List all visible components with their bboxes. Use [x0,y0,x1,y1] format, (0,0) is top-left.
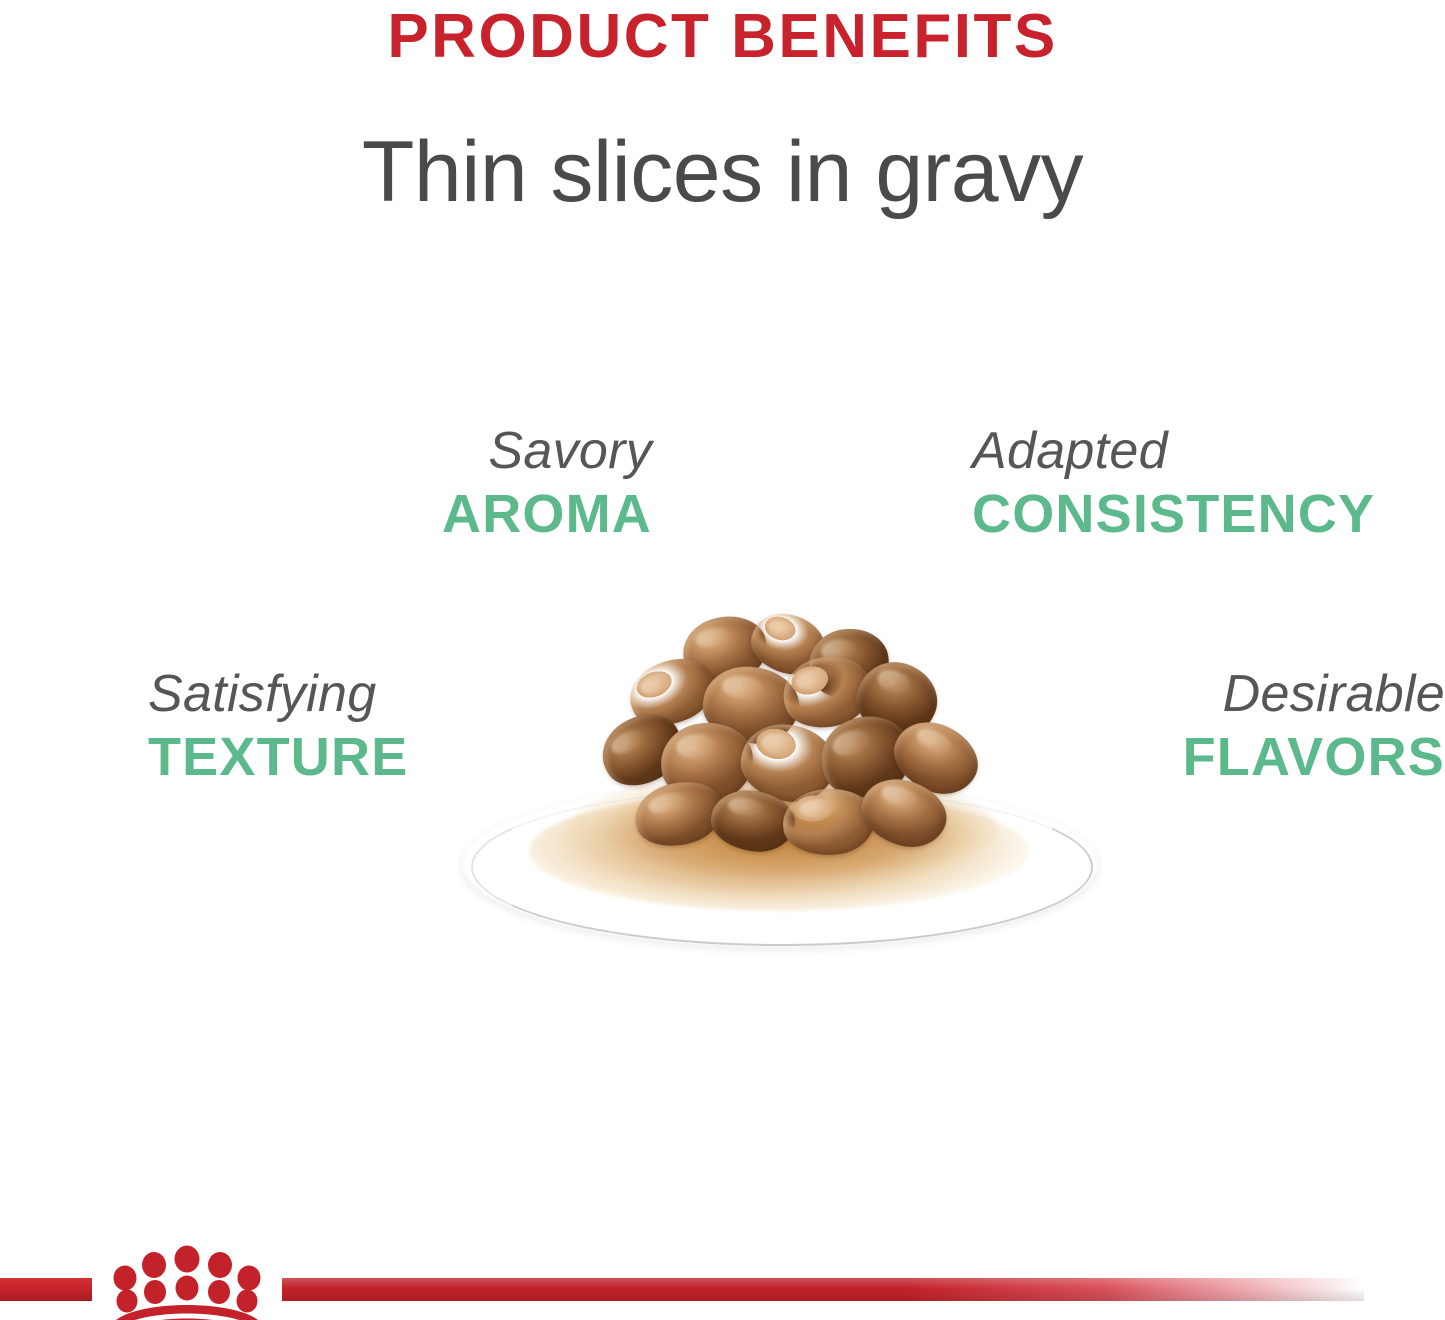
benefit-aroma-adjective: Savory [0,422,652,480]
benefit-texture-noun: TEXTURE [148,727,443,787]
heading-block: PRODUCT BENEFITS Thin slices in gravy [0,0,1445,217]
benefit-texture: Satisfying TEXTURE [0,665,443,788]
benefit-consistency-noun: CONSISTENCY [972,484,1445,544]
brand-bar-left-segment [0,1278,92,1301]
page-subtitle: Thin slices in gravy [0,127,1445,217]
benefit-consistency-adjective: Adapted [972,422,1445,480]
benefit-aroma: Savory AROMA [0,422,652,545]
product-benefits-page: PRODUCT BENEFITS Thin slices in gravy Sa… [0,0,1445,1320]
benefit-texture-adjective: Satisfying [148,665,443,723]
benefit-aroma-noun: AROMA [0,484,652,544]
page-title: PRODUCT BENEFITS [0,4,1445,69]
product-food-image [447,595,1112,960]
brand-bar-right-segment [282,1278,1364,1301]
meat-chunk-mound [565,613,1005,875]
benefit-consistency: Adapted CONSISTENCY [972,422,1445,545]
brand-bar [0,1272,1445,1306]
royal-canin-crown-logo [92,1244,282,1320]
